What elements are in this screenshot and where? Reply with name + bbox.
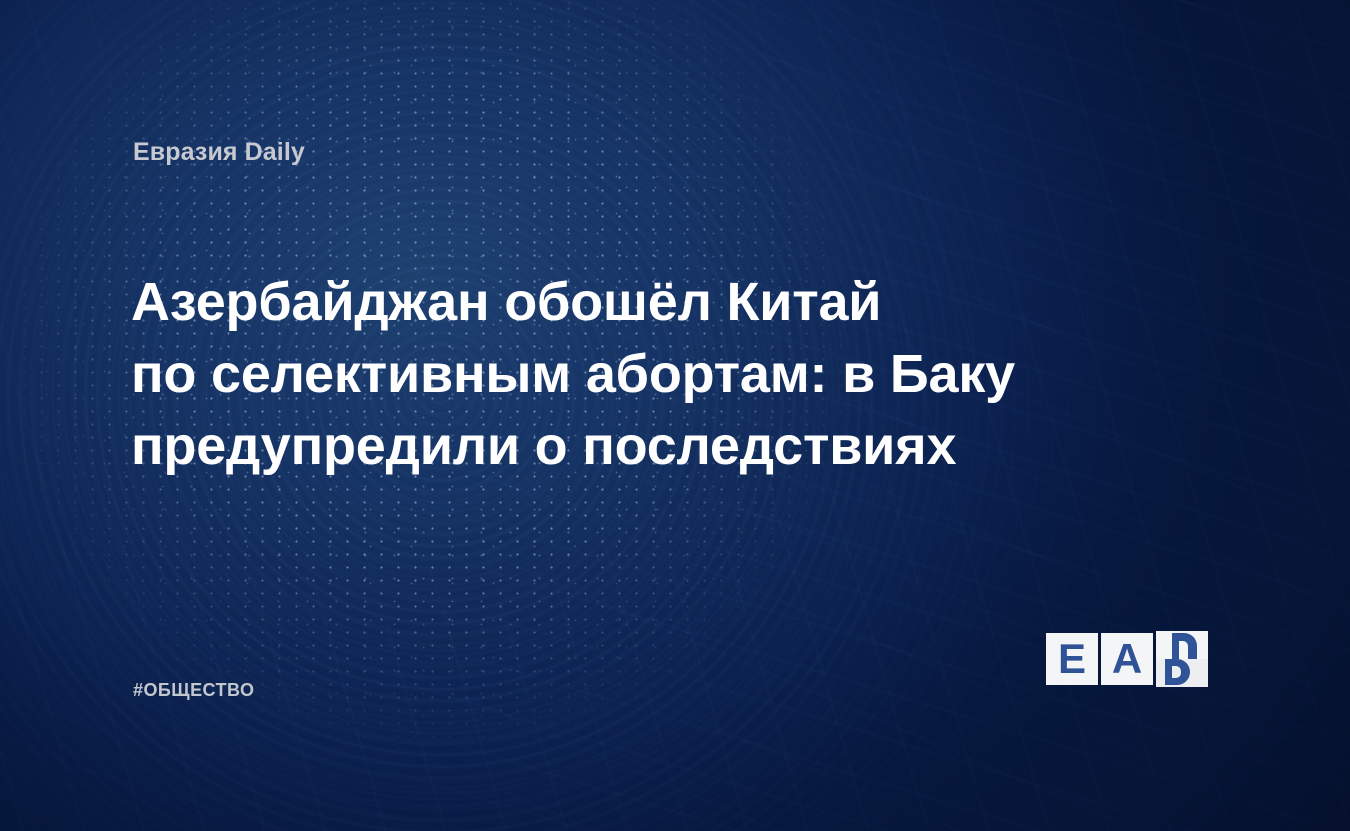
headline-line-3: предупредили о последствиях	[131, 410, 1091, 482]
logo-tile-a: A	[1101, 633, 1153, 685]
headline-line-2: по селективным абортам: в Баку	[131, 338, 1091, 410]
brand-label: Евразия Daily	[133, 138, 305, 167]
headline: Азербайджан обошёл Китай по селективным …	[131, 266, 1091, 482]
headline-line-1: Азербайджан обошёл Китай	[131, 266, 1091, 338]
logo-letter-e: E	[1046, 633, 1098, 685]
logo-split-d	[1156, 631, 1216, 689]
logo-letter-a: A	[1101, 633, 1153, 685]
logo-d-lower-half	[1156, 659, 1208, 687]
logo-d-upper-half	[1156, 631, 1208, 659]
logo-tile-e: E	[1046, 633, 1098, 685]
cover-content: Евразия Daily Азербайджан обошёл Китай п…	[0, 0, 1350, 831]
category-tag[interactable]: #ОБЩЕСТВО	[133, 680, 254, 701]
news-cover-card: Евразия Daily Азербайджан обошёл Китай п…	[0, 0, 1350, 831]
eadaily-logo[interactable]: E A	[1046, 631, 1226, 687]
